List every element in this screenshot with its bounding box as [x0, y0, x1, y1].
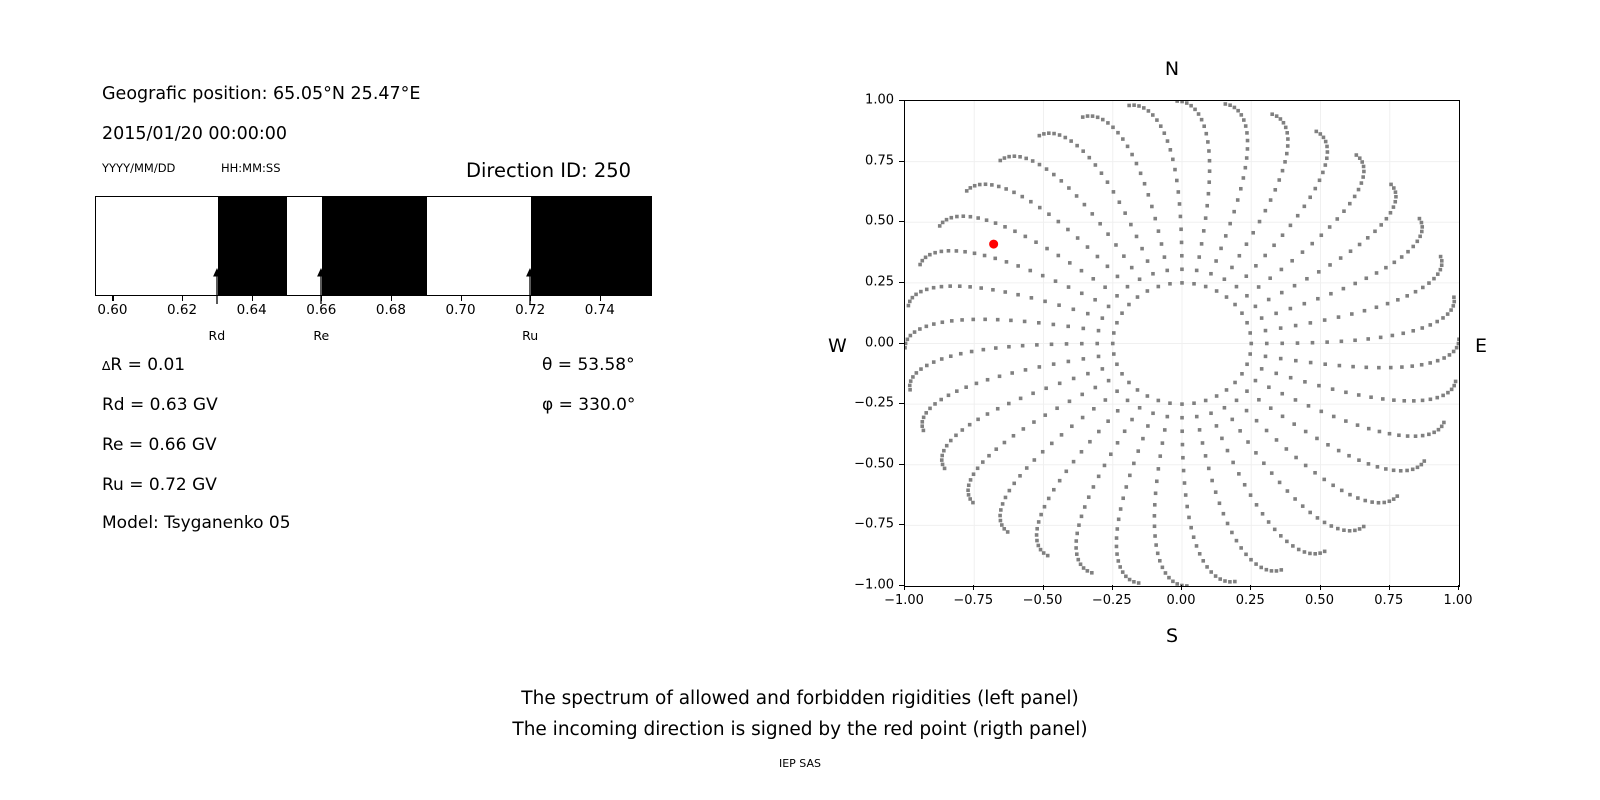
direction-map-x-tick [1458, 585, 1459, 590]
marker-arrow-re-icon [316, 268, 327, 304]
marker-arrow-rd-icon [211, 268, 222, 304]
direction-map-x-tick-label: 0.75 [1374, 593, 1403, 608]
spectrum-x-tick [112, 296, 113, 301]
spectrum-x-tick-label: 0.70 [446, 302, 476, 318]
marker-label-rd: Rd [209, 328, 226, 343]
footer-credit: IEP SAS [0, 757, 1600, 770]
spectrum-x-tick-label: 0.64 [237, 302, 267, 318]
direction-map-x-tick-label: −0.75 [953, 593, 993, 608]
direction-map-axes [904, 100, 1460, 587]
direction-map-x-tick-label: 0.25 [1236, 593, 1265, 608]
direction-map-x-tick [973, 585, 974, 590]
marker-label-re: Re [313, 328, 329, 343]
spectrum-x-tick-label: 0.62 [167, 302, 197, 318]
time-format-hint: HH:MM:SS [221, 163, 281, 175]
direction-map-x-tick [1250, 585, 1251, 590]
param-delta-r: ∆R = 0.01 [102, 357, 185, 374]
direction-map-y-tick [899, 221, 904, 222]
param-phi: φ = 330.0° [542, 397, 635, 414]
marker-label-ru: Ru [522, 328, 538, 343]
spectrum-x-tick-label: 0.74 [585, 302, 615, 318]
direction-map-x-tick [904, 585, 905, 590]
direction-map-x-tick-label: 0.50 [1305, 593, 1334, 608]
direction-map-x-tick-label: −1.00 [884, 593, 924, 608]
param-rd: Rd = 0.63 GV [102, 397, 218, 414]
spectrum-x-tick [182, 296, 183, 301]
direction-map-y-tick-label: 0.50 [842, 214, 894, 229]
rigidity-spectrum-chart [95, 196, 652, 296]
param-model: Model: Tsyganenko 05 [102, 515, 291, 532]
compass-label-east: E [1475, 335, 1487, 357]
incoming-direction-point [989, 240, 998, 249]
spectrum-x-tick-label: 0.68 [376, 302, 406, 318]
direction-map-y-tick-label: −1.00 [842, 578, 894, 593]
compass-label-south: S [1166, 625, 1178, 647]
direction-map-x-tick-label: 1.00 [1444, 593, 1473, 608]
direction-map-y-tick-label: 0.00 [842, 335, 894, 350]
spectrum-bar [95, 196, 652, 296]
direction-map-x-tick [1181, 585, 1182, 590]
datetime-label: 2015/01/20 00:00:00 [102, 126, 287, 144]
direction-map-x-tick [1043, 585, 1044, 590]
spectrum-band-forbidden [322, 197, 426, 295]
param-theta: θ = 53.58° [542, 357, 635, 374]
param-delta-r-text: R = 0.01 [110, 355, 185, 375]
direction-map-y-tick-label: 0.25 [842, 274, 894, 289]
param-re: Re = 0.66 GV [102, 437, 217, 454]
caption-line-1: The spectrum of allowed and forbidden ri… [0, 688, 1600, 709]
marker-arrow-ru-icon [525, 268, 536, 304]
direction-map-x-tick-label: −0.25 [1092, 593, 1132, 608]
direction-map-y-tick [899, 343, 904, 344]
direction-map-y-tick-label: 1.00 [842, 93, 894, 108]
direction-map-x-tick [1389, 585, 1390, 590]
direction-map-x-tick-label: −0.50 [1023, 593, 1063, 608]
direction-id-label: Direction ID: 250 [466, 161, 631, 181]
spectrum-x-tick-label: 0.60 [97, 302, 127, 318]
direction-map-y-tick-label: −0.25 [842, 396, 894, 411]
direction-map-y-tick [899, 403, 904, 404]
direction-map-y-tick [899, 100, 904, 101]
date-format-hint: YYYY/MM/DD [102, 163, 175, 175]
spectrum-x-tick-label: 0.72 [515, 302, 545, 318]
left-panel: Geografic position: 65.05°N 25.47°E 2015… [0, 0, 760, 660]
spectrum-band-forbidden [531, 197, 652, 295]
spectrum-band-forbidden [218, 197, 288, 295]
direction-map-x-tick [1112, 585, 1113, 590]
direction-map-y-tick [899, 161, 904, 162]
grid-lines [905, 101, 1459, 586]
spectrum-x-tick [391, 296, 392, 301]
param-ru: Ru = 0.72 GV [102, 477, 217, 494]
compass-label-north: N [1165, 58, 1179, 80]
spectrum-x-tick [252, 296, 253, 301]
direction-map-y-tick-label: −0.50 [842, 456, 894, 471]
direction-map-y-tick [899, 282, 904, 283]
direction-map-y-tick [899, 524, 904, 525]
direction-map-x-tick [1320, 585, 1321, 590]
direction-map-plot [905, 101, 1459, 586]
direction-map-y-tick [899, 464, 904, 465]
direction-map-y-tick-label: −0.75 [842, 517, 894, 532]
spectrum-x-tick [600, 296, 601, 301]
direction-map-y-tick-label: 0.75 [842, 153, 894, 168]
spectrum-x-tick-label: 0.66 [306, 302, 336, 318]
spectrum-x-axis: 0.600.620.640.660.680.700.720.74RdReRu [95, 296, 652, 297]
geographic-position-label: Geografic position: 65.05°N 25.47°E [102, 86, 420, 104]
spectrum-x-tick [461, 296, 462, 301]
caption-line-2: The incoming direction is signed by the … [0, 719, 1600, 740]
direction-map-x-tick-label: 0.00 [1167, 593, 1196, 608]
